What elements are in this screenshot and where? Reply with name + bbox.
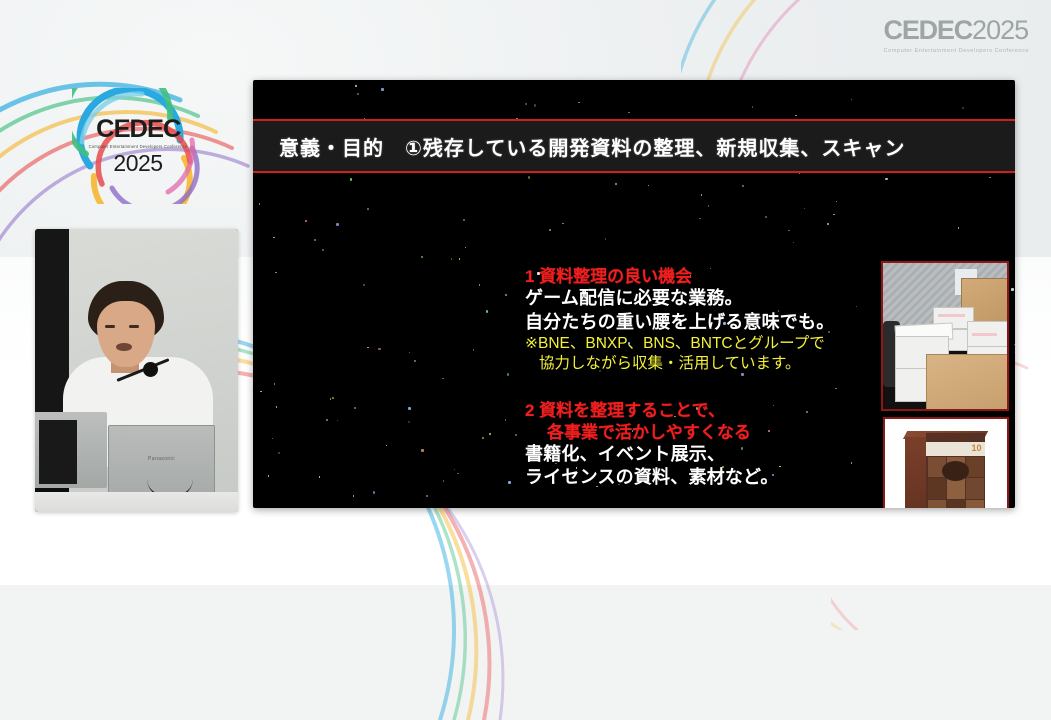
- cedec-logo-text: CEDEC: [96, 117, 180, 142]
- bookbox-number: 10: [972, 443, 982, 453]
- starfield-speck: [788, 230, 790, 232]
- block-1-line-1: ゲーム配信に必要な業務。: [525, 287, 865, 310]
- warehouse-box-label: [972, 333, 997, 336]
- starfield-speck: [373, 491, 376, 494]
- bookbox-art-cell: [966, 478, 984, 498]
- starfield-speck: [421, 256, 423, 258]
- bookbox-top-band: 10: [926, 442, 985, 456]
- starfield-speck: [330, 398, 332, 400]
- bookbox-logo-ellipse: [942, 461, 969, 481]
- starfield-speck: [833, 214, 835, 216]
- bookbox-art-cell: [947, 478, 965, 498]
- starfield-speck: [549, 229, 551, 231]
- bookbox-front-face: 10: [926, 433, 985, 508]
- block-2-line-1: 書籍化、イベント展示、: [525, 443, 865, 466]
- starfield-speck: [367, 347, 369, 349]
- starfield-speck: [699, 218, 701, 220]
- slide-block-1: 1 資料整理の良い機会 ゲーム配信に必要な業務。 自分たちの重い腰を上げる意味で…: [525, 266, 865, 374]
- presentation-slide[interactable]: 意義・目的 ①残存している開発資料の整理、新規収集、スキャン 1 資料整理の良い…: [253, 80, 1015, 508]
- starfield-speck: [827, 223, 830, 226]
- bookbox-art-cell: [928, 500, 946, 508]
- starfield-speck: [421, 449, 424, 452]
- starfield-speck: [459, 258, 461, 260]
- starfield-speck: [885, 178, 888, 181]
- starfield-speck: [278, 452, 280, 454]
- block-2-heading: 2 資料を整理することで、: [525, 400, 865, 421]
- starfield-speck: [409, 352, 411, 354]
- cedec-wordmark-year: 2025: [972, 15, 1028, 45]
- starfield-speck: [408, 407, 411, 410]
- starfield-speck: [357, 93, 360, 96]
- starfield-speck: [442, 378, 444, 380]
- starfield-speck: [742, 185, 744, 187]
- photo-caption-right: 倉庫から、関連資料を引き上げて、内容を確認して、スキャン、社内のアーカイブサーバ…: [1014, 338, 1015, 397]
- bookbox-art-cell: [947, 500, 965, 508]
- slide-block-2: 2 資料を整理することで、 各事業で活かしやすくなる 書籍化、イベント展示、 ラ…: [525, 400, 865, 489]
- starfield-speck: [260, 391, 262, 393]
- starfield-speck: [708, 205, 710, 207]
- block-1-note-2: 協力しながら収集・活用しています。: [525, 354, 865, 374]
- cedec-logo-tagline: Computer Entertainment Developers Confer…: [89, 144, 188, 149]
- starfield-speck: [578, 102, 580, 104]
- laptop-brand-label: Panasonic: [148, 456, 175, 462]
- starfield-speck: [305, 220, 307, 222]
- speaker-eye-left: [105, 325, 115, 328]
- starfield-speck: [628, 112, 630, 114]
- starfield-speck: [336, 223, 339, 226]
- starfield-speck: [354, 407, 356, 409]
- starfield-speck: [451, 258, 453, 260]
- starfield-speck: [701, 194, 703, 196]
- starfield-speck: [479, 284, 481, 286]
- starfield-speck: [528, 176, 531, 179]
- warehouse-desk: [926, 354, 1009, 411]
- starfield-speck: [851, 99, 853, 101]
- starfield-speck: [273, 237, 275, 239]
- block-2-line-2: ライセンスの資料、素材など。: [525, 466, 865, 489]
- starfield-speck: [795, 115, 797, 117]
- starfield-speck: [378, 348, 381, 351]
- secondary-laptop: [35, 412, 107, 488]
- slide-left-text-column: 1 資料整理の良い機会 ゲーム配信に必要な業務。 自分たちの重い腰を上げる意味で…: [525, 266, 865, 508]
- cedec-logo-year: 2025: [113, 152, 162, 175]
- starfield-speck: [414, 360, 416, 362]
- warehouse-box-label: [938, 314, 965, 317]
- starfield-speck: [804, 208, 806, 210]
- starfield-speck: [259, 203, 261, 205]
- starfield-speck: [350, 178, 353, 181]
- cedec-wordmark-text: CEDEC: [884, 15, 973, 45]
- starfield-speck: [605, 238, 607, 240]
- cedec-wordmark: CEDEC2025 Computer Entertainment Develop…: [884, 17, 1029, 54]
- bookbox-spine: [905, 437, 928, 508]
- slide-title-band: 意義・目的 ①残存している開発資料の整理、新規収集、スキャン: [253, 119, 1015, 173]
- photo-book-boxset: 10: [883, 417, 1009, 508]
- starfield-speck: [958, 227, 960, 229]
- starfield-speck: [355, 85, 357, 87]
- starfield-speck: [274, 383, 276, 385]
- starfield-speck: [367, 208, 369, 210]
- starfield-speck: [319, 476, 321, 478]
- starfield-speck: [326, 419, 328, 421]
- starfield-speck: [505, 419, 507, 421]
- starfield-speck: [465, 247, 467, 249]
- starfield-speck: [534, 104, 537, 107]
- starfield-speck: [989, 177, 991, 179]
- starfield-speck: [337, 420, 339, 422]
- starfield-speck: [752, 106, 754, 108]
- starfield-speck: [525, 103, 527, 105]
- starfield-speck: [793, 242, 795, 244]
- bookbox-art-cell: [966, 500, 984, 508]
- bookbox-art-cell: [928, 478, 946, 498]
- starfield-speck: [381, 88, 384, 91]
- slide-title: 意義・目的 ①残存している開発資料の整理、新規収集、スキャン: [253, 132, 905, 161]
- block-2-heading-2: 各事業で活かしやすくなる: [525, 422, 865, 443]
- starfield-speck: [1011, 288, 1014, 291]
- starfield-speck: [386, 445, 388, 447]
- starfield-speck: [454, 469, 456, 471]
- starfield-speck: [322, 249, 324, 251]
- starfield-speck: [426, 495, 428, 497]
- starfield-speck: [489, 433, 491, 435]
- starfield-speck: [408, 421, 411, 424]
- cedec-wordmark-tagline: Computer Entertainment Developers Confer…: [884, 48, 1029, 54]
- starfield-speck: [648, 185, 650, 187]
- starfield-speck: [443, 480, 445, 482]
- secondary-laptop-screen: [39, 420, 77, 484]
- starfield-speck: [505, 294, 507, 296]
- starfield-speck: [275, 272, 277, 274]
- starfield-speck: [332, 397, 334, 399]
- starfield-speck: [276, 406, 278, 408]
- starfield-speck: [363, 284, 365, 286]
- block-1-line-2: 自分たちの重い腰を上げる意味でも。: [525, 311, 865, 334]
- starfield-speck: [836, 201, 838, 203]
- podium-desk: [35, 492, 238, 512]
- starfield-speck: [562, 223, 564, 225]
- microphone-icon: [143, 362, 158, 377]
- starfield-speck: [482, 437, 484, 439]
- starfield-speck: [314, 239, 316, 241]
- starfield-speck: [615, 183, 617, 185]
- starfield-speck: [268, 475, 270, 477]
- starfield-speck: [507, 373, 510, 376]
- starfield-speck: [457, 473, 459, 475]
- speaker-eye-right: [129, 325, 139, 328]
- starfield-speck: [515, 434, 517, 436]
- block-1-heading: 1 資料整理の良い機会: [525, 266, 865, 287]
- starfield-speck: [486, 310, 489, 313]
- speaker-video-feed[interactable]: Panasonic: [35, 229, 238, 512]
- starfield-speck: [272, 438, 274, 440]
- starfield-speck: [463, 219, 465, 221]
- photo-warehouse-boxes: [881, 261, 1009, 411]
- starfield-speck: [473, 349, 475, 351]
- cedec-round-logo: CEDEC Computer Entertainment Developers …: [72, 88, 204, 204]
- starfield-speck: [353, 495, 355, 497]
- block-1-note-1: ※BNE、BNXP、BNS、BNTCとグループで: [525, 334, 865, 354]
- starfield-speck: [765, 216, 767, 218]
- starfield-speck: [962, 107, 964, 109]
- starfield-speck: [508, 481, 511, 484]
